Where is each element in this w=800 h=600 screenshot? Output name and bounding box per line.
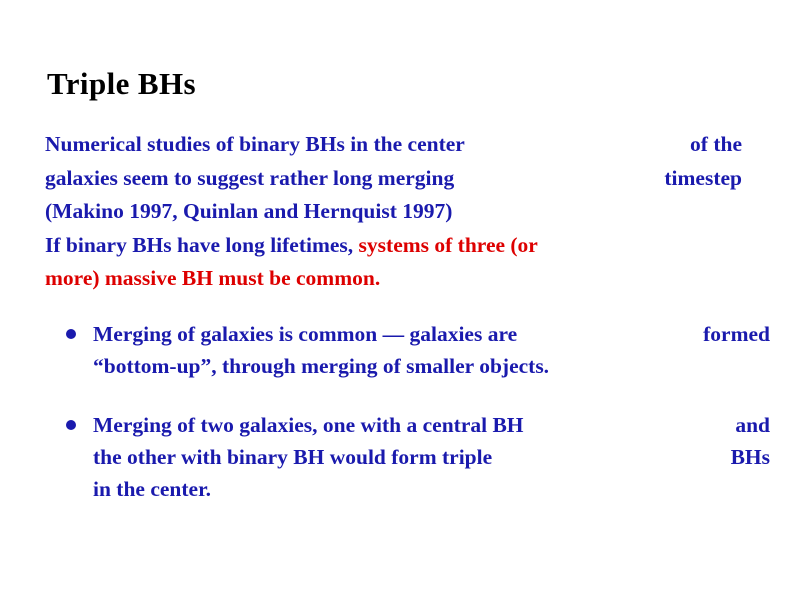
paragraph-line-2-start: galaxies seem to suggest rather long mer… [45,162,454,196]
slide-canvas: Triple BHs Numerical studies of binary B… [0,0,800,600]
intro-paragraph: Numerical studies of binary BHs in the c… [45,128,742,296]
bullet-1-line-1-start: Merging of galaxies is common — galaxies… [93,318,517,350]
page-title: Triple BHs [47,66,196,102]
bullet-2-line-1-start: Merging of two galaxies, one with a cent… [93,409,524,441]
bullet-1-line-1-end: formed [703,318,770,350]
paragraph-line-1-end: of the [690,128,742,162]
paragraph-line-4-blue: If binary BHs have long lifetimes, [45,233,359,257]
bullet-dot-icon [66,420,76,430]
list-item: Merging of galaxies is common — galaxies… [64,318,770,382]
bullet-2-line-2-start: the other with binary BH would form trip… [93,441,492,473]
bullet-dot-icon [66,329,76,339]
paragraph-line-2-end: timestep [664,162,742,196]
paragraph-citation: (Makino 1997, Quinlan and Hernquist 1997… [45,199,452,223]
bullet-1-line-2-text: “bottom-up”, through merging of smaller … [93,354,549,378]
bullet-1-line-2: “bottom-up”, through merging of smaller … [93,350,770,382]
bullet-1-line-1: Merging of galaxies is common — galaxies… [93,318,770,350]
bullet-list: Merging of galaxies is common — galaxies… [64,318,770,532]
paragraph-line-5-red: more) massive BH must be common. [45,266,380,290]
paragraph-line-3: (Makino 1997, Quinlan and Hernquist 1997… [45,195,742,229]
bullet-2-line-1: Merging of two galaxies, one with a cent… [93,409,770,441]
bullet-2-line-2: the other with binary BH would form trip… [93,441,770,473]
list-item: Merging of two galaxies, one with a cent… [64,409,770,505]
paragraph-line-4-red: systems of three (or [359,233,538,257]
paragraph-line-2: galaxies seem to suggest rather long mer… [45,162,742,196]
paragraph-line-4: If binary BHs have long lifetimes, syste… [45,229,742,263]
bullet-2-line-3-text: in the center. [93,477,211,501]
paragraph-line-1-start: Numerical studies of binary BHs in the c… [45,128,465,162]
paragraph-line-1: Numerical studies of binary BHs in the c… [45,128,742,162]
bullet-2-line-3: in the center. [93,473,770,505]
bullet-2-line-1-end: and [735,409,770,441]
bullet-2-line-2-end: BHs [731,441,770,473]
paragraph-line-5: more) massive BH must be common. [45,262,742,296]
